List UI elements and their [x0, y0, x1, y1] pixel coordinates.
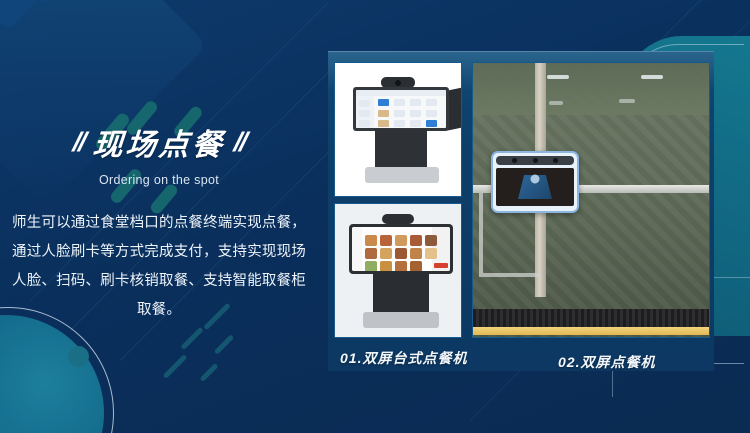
ceiling-light	[641, 75, 663, 79]
caption-01-label: 双屏台式点餐机	[362, 350, 467, 366]
pos-stand	[375, 129, 427, 171]
kiosk-menu-ui	[352, 227, 450, 271]
caption-02-number: 02.	[558, 354, 580, 370]
arc-outline-bottomleft	[0, 307, 114, 433]
camera-icon	[382, 214, 414, 224]
slide-root: // 现场点餐 // Ordering on the spot 师生可以通过食堂…	[0, 0, 750, 433]
image-food-kiosk[interactable]	[334, 203, 462, 338]
caption-02-label: 双屏点餐机	[580, 354, 655, 370]
page-title: 现场点餐	[91, 120, 227, 164]
gallery-images	[334, 62, 710, 338]
wall-mounted-kiosk	[491, 151, 579, 213]
caption-02: 02.双屏点餐机	[558, 352, 655, 372]
ceiling-light	[547, 75, 569, 79]
slash-left-icon: //	[72, 129, 86, 156]
caption-01-number: 01.	[340, 350, 362, 366]
camera-bar-icon	[496, 156, 574, 165]
kiosk-base	[363, 312, 439, 328]
body-paragraph: 师生可以通过食堂档口的点餐终端实现点餐，通过人脸刷卡等方式完成支付，支持实现现场…	[0, 209, 318, 325]
secondary-display	[447, 87, 462, 130]
text-column: // 现场点餐 // Ordering on the spot 师生可以通过食堂…	[0, 120, 318, 325]
slash-right-icon: //	[233, 129, 247, 156]
pos-base	[365, 167, 439, 183]
image-installed-scene[interactable]	[472, 62, 710, 338]
kiosk-stand	[373, 272, 429, 316]
kiosk-display	[496, 168, 574, 206]
gallery-left-column	[334, 62, 462, 338]
face-outline-icon	[531, 175, 540, 184]
dot-decoration	[68, 346, 89, 367]
caption-01: 01.双屏台式点餐机	[340, 348, 467, 368]
pos-main-display	[353, 87, 449, 131]
page-subtitle: Ordering on the spot	[0, 173, 318, 187]
pos-screen-ui	[356, 90, 446, 128]
wall-upper-band	[473, 63, 709, 115]
ceiling-light-reflection	[549, 101, 563, 105]
tactile-yellow-line	[473, 327, 709, 335]
floor-strip	[473, 309, 709, 327]
kiosk-main-display	[349, 224, 453, 274]
image-desktop-pos[interactable]	[334, 62, 462, 197]
order-button	[434, 263, 448, 268]
ceiling-light-reflection	[619, 99, 635, 103]
title-row: // 现场点餐 //	[0, 120, 318, 164]
